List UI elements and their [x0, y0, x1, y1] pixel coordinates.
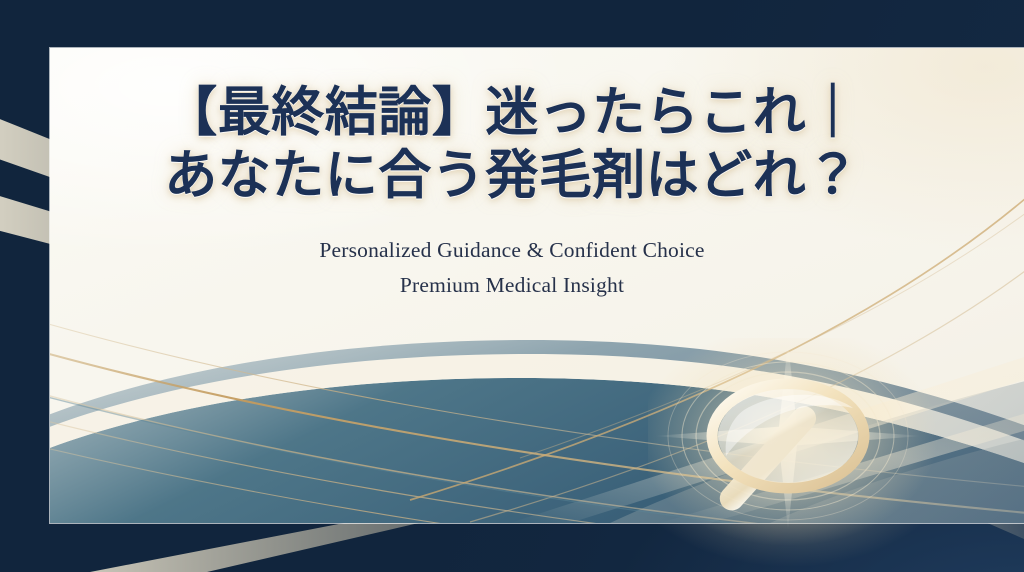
- page-subtitle: Personalized Guidance & Confident Choice…: [0, 233, 1024, 303]
- title-line-1: 【最終結論】迷ったらこれ｜: [0, 82, 1024, 145]
- title-line-2: あなたに合う発毛剤はどれ？: [0, 145, 1024, 208]
- subtitle-line-2: Premium Medical Insight: [0, 268, 1024, 303]
- slide-text-block: 【最終結論】迷ったらこれ｜ あなたに合う発毛剤はどれ？ Personalized…: [0, 82, 1024, 303]
- slide-canvas: 【最終結論】迷ったらこれ｜ あなたに合う発毛剤はどれ？ Personalized…: [0, 0, 1024, 572]
- subtitle-line-1: Personalized Guidance & Confident Choice: [0, 233, 1024, 268]
- page-title: 【最終結論】迷ったらこれ｜ あなたに合う発毛剤はどれ？: [0, 82, 1024, 207]
